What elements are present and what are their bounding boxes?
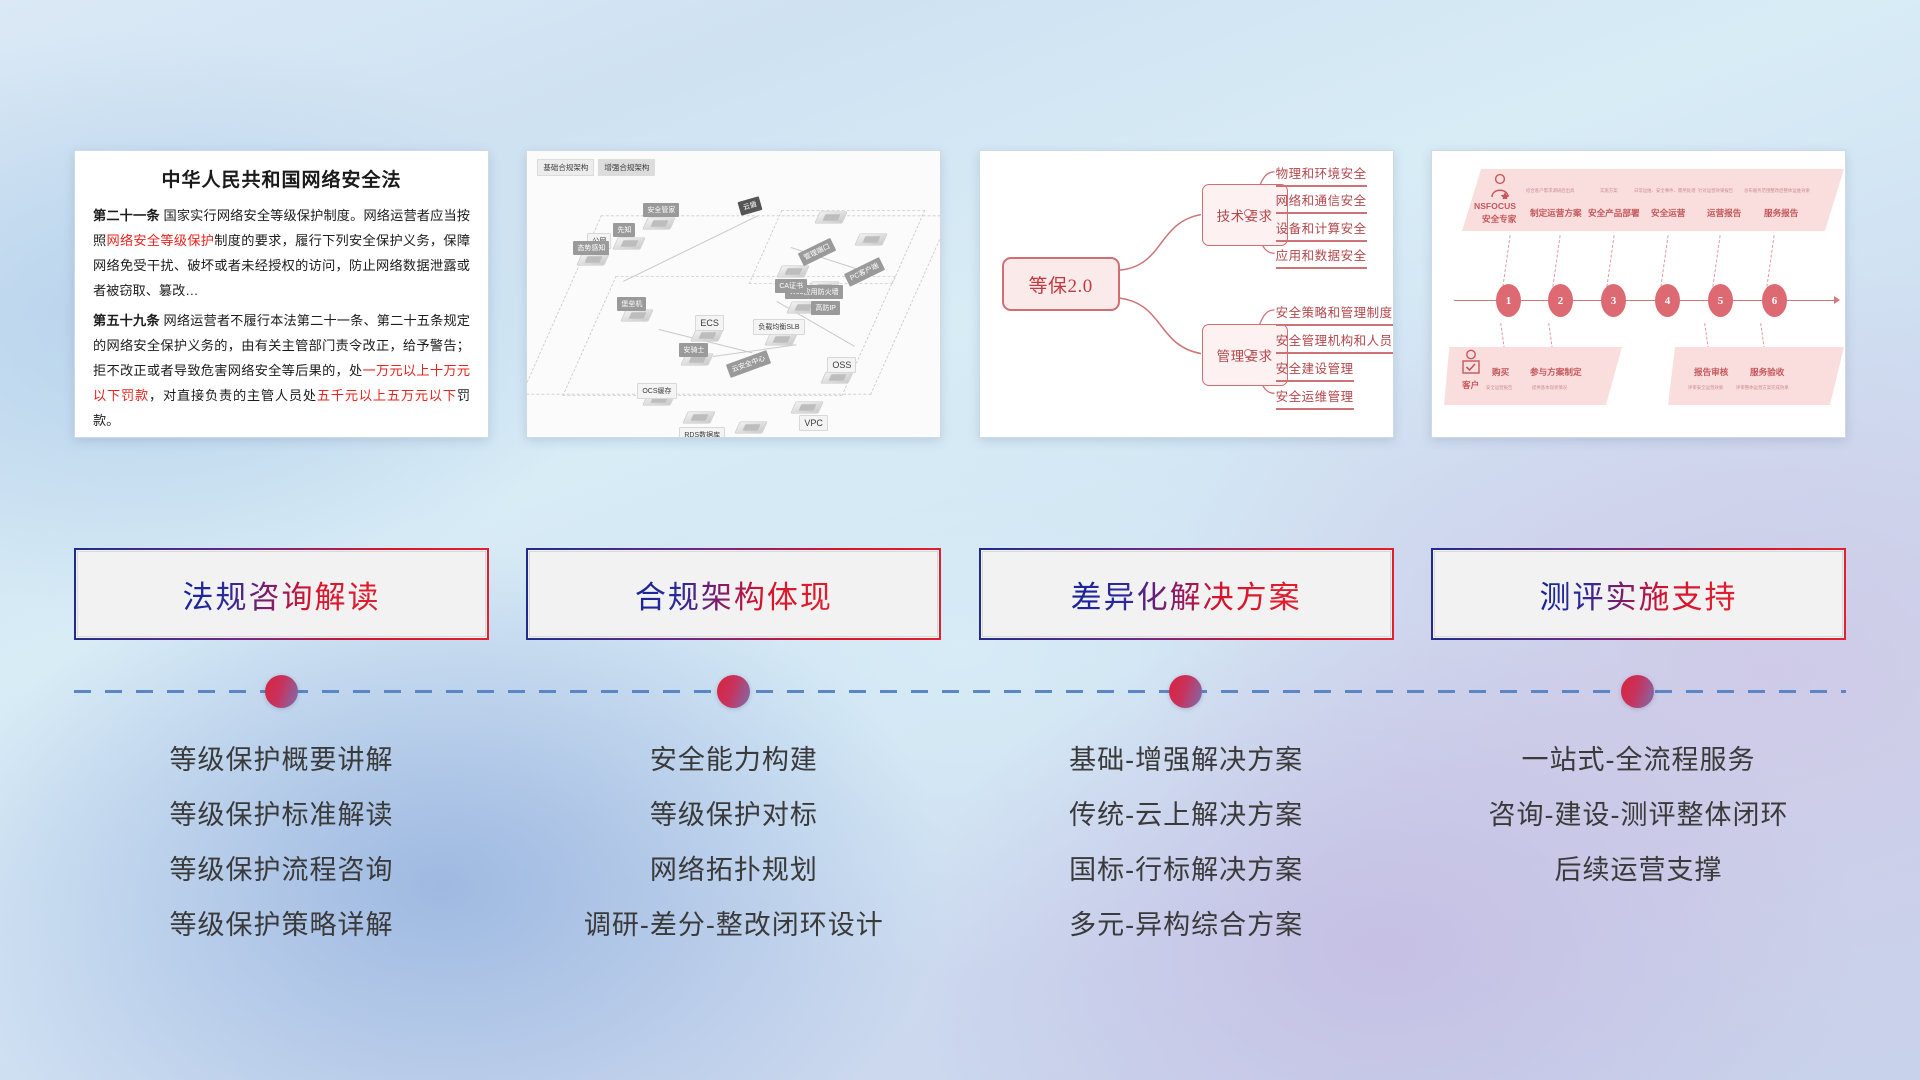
- arch-cube-slb: [765, 333, 798, 345]
- mindmap-collapse-dot-technical[interactable]: [1244, 209, 1252, 217]
- section-header-label-1: 合规架构体现: [635, 572, 833, 617]
- bullet-item-1-2: 网络拓扑规划: [650, 845, 818, 896]
- arch-cube-situation: [577, 253, 610, 265]
- flow-leader-5: [1712, 235, 1720, 287]
- law-run-2-3: 五千元以上五万元以下: [317, 388, 457, 403]
- flow-leader-2: [1552, 235, 1560, 287]
- flow-step-1[interactable]: 1: [1496, 284, 1521, 317]
- timeline: [74, 690, 1846, 694]
- flow-leader-1: [1502, 235, 1510, 287]
- law-article-label-2: 第五十九条: [93, 313, 160, 328]
- cloud-architecture-card: 基础合规架构 增强合规架构 云盾 公网 安全管家: [526, 150, 941, 438]
- flow-top-step-title-1: 安全产品部署: [1588, 207, 1640, 219]
- section-header-row: 法规咨询解读 合规架构体现 差异化解决方案 测评实施支持: [74, 548, 1846, 640]
- arch-node-bastion: 堡垒机: [617, 297, 646, 311]
- architecture-tab-bar: 基础合规架构 增强合规架构: [537, 159, 655, 176]
- section-header-label-0: 法规咨询解读: [183, 572, 381, 617]
- timeline-dot-3[interactable]: [1621, 675, 1654, 708]
- arch-cube-vpc: [791, 401, 824, 413]
- flow-bottom-step-title-1: 参与方案制定: [1530, 366, 1582, 378]
- section-header-1[interactable]: 合规架构体现: [526, 548, 941, 640]
- flow-leader-b4: [1760, 323, 1765, 349]
- flow-step-3[interactable]: 3: [1601, 284, 1626, 317]
- flow-bottom-step-sub-2: 评审安全运营效果: [1688, 385, 1723, 391]
- flow-leader-b3: [1704, 323, 1709, 349]
- arch-cube-ca: [777, 265, 810, 277]
- bullet-item-1-0: 安全能力构建: [650, 735, 818, 786]
- bullet-column-1: 安全能力构建 等级保护对标 网络拓扑规划 调研-差分-整改闭环设计: [526, 735, 941, 965]
- law-run-2-2: ，对直接负责的主管人员处: [149, 388, 317, 403]
- flow-top-step-sub-4: 总布服务范围整改后整体运维效果: [1744, 188, 1810, 194]
- mindmap-leaf-tech-2: 设备和计算安全: [1276, 218, 1367, 242]
- bullet-column-2: 基础-增强解决方案 传统-云上解决方案 国标-行标解决方案 多元-异构综合方案: [979, 735, 1394, 965]
- flow-top-step-sub-0: 结合客户需求调研后出具: [1526, 188, 1574, 194]
- flow-bottom-step-title-0: 购买: [1492, 366, 1509, 378]
- flow-top-step-sub-3: 针对运营效果报告: [1698, 188, 1733, 194]
- mindmap-leaf-mgmt-3: 安全运维管理: [1276, 386, 1354, 410]
- law-article-label-1: 第二十一条: [93, 208, 160, 223]
- section-header-3[interactable]: 测评实施支持: [1431, 548, 1846, 640]
- section-header-label-2: 差异化解决方案: [1071, 572, 1302, 617]
- arch-node-slb: 负载均衡SLB: [753, 319, 804, 335]
- arch-node-foreknow: 先知: [613, 223, 635, 237]
- section-header-0[interactable]: 法规咨询解读: [74, 548, 489, 640]
- flow-bottom-step-title-2: 报告审核: [1694, 366, 1728, 378]
- flow-expert-name-line2: 安全专家: [1482, 213, 1516, 225]
- flow-bottom-step-sub-1: 提供基本现状情况: [1532, 385, 1567, 391]
- arch-cube-foreknow: [613, 237, 646, 249]
- flow-leader-3: [1606, 235, 1614, 287]
- arch-cube-security-butler: [643, 217, 676, 229]
- flow-step-5[interactable]: 5: [1708, 284, 1733, 317]
- flow-top-band: [1462, 169, 1844, 231]
- flow-step-2[interactable]: 2: [1548, 284, 1573, 317]
- bullet-column-row: 等级保护概要讲解 等级保护标准解读 等级保护流程咨询 等级保护策略详解 安全能力…: [74, 735, 1846, 965]
- tab-basic-compliance[interactable]: 基础合规架构: [537, 159, 594, 176]
- bullet-item-0-0: 等级保护概要讲解: [170, 735, 394, 786]
- timeline-dot-1[interactable]: [717, 675, 750, 708]
- law-reference-card: 中华人民共和国网络安全法 第二十一条 国家实行网络安全等级保护制度。网络运营者应…: [74, 150, 489, 438]
- section-header-2[interactable]: 差异化解决方案: [979, 548, 1394, 640]
- arch-cube-pc-client: [855, 233, 888, 245]
- arch-cube-ecs: [691, 329, 724, 341]
- mindmap-collapse-dot-management[interactable]: [1244, 349, 1252, 357]
- flow-top-step-title-2: 安全运营: [1651, 207, 1685, 219]
- flow-step-6[interactable]: 6: [1762, 284, 1787, 317]
- arch-node-oss: OSS: [827, 357, 856, 373]
- flow-top-step-title-0: 制定运营方案: [1530, 207, 1582, 219]
- flow-bottom-step-title-3: 服务验收: [1750, 366, 1784, 378]
- mindmap-card: 等保2.0 技术要求 物理和环境安全 网络和通信安全 设备和计算安全 应用和数据…: [979, 150, 1394, 438]
- timeline-dot-0[interactable]: [265, 675, 298, 708]
- law-run-1-1: 网络安全等级保护: [106, 233, 214, 248]
- bullet-item-2-2: 国标-行标解决方案: [1069, 845, 1303, 896]
- bullet-item-3-2: 后续运营支撑: [1554, 845, 1722, 896]
- mindmap-leaf-tech-0: 物理和环境安全: [1276, 163, 1367, 187]
- tab-enhanced-compliance[interactable]: 增强合规架构: [598, 159, 655, 176]
- arch-node-cloud-shield: 云盾: [738, 196, 763, 216]
- bullet-item-2-3: 多元-异构综合方案: [1069, 900, 1303, 951]
- bullet-item-0-1: 等级保护标准解读: [170, 790, 394, 841]
- timeline-dot-2[interactable]: [1169, 675, 1202, 708]
- reference-card-row: 中华人民共和国网络安全法 第二十一条 国家实行网络安全等级保护制度。网络运营者应…: [74, 150, 1846, 438]
- customer-person-check-icon: [1460, 349, 1482, 380]
- arch-cube-oss: [821, 371, 854, 383]
- arch-cube-bastion: [621, 309, 654, 321]
- arch-node-security-butler: 安全管家: [643, 203, 679, 217]
- mindmap-leaf-mgmt-1: 安全管理机构和人员: [1276, 330, 1393, 354]
- mindmap-leaf-mgmt-2: 安全建设管理: [1276, 358, 1354, 382]
- arch-node-situation: 态势感知: [573, 241, 609, 255]
- flow-leader-6: [1766, 235, 1774, 287]
- arch-node-gaofang-ip: 高防IP: [811, 301, 840, 315]
- arch-cube-rds: [683, 411, 716, 423]
- mindmap-leaf-mgmt-0: 安全策略和管理制度: [1276, 302, 1393, 326]
- bullet-item-0-2: 等级保护流程咨询: [170, 845, 394, 896]
- flow-top-step-title-3: 运营报告: [1707, 207, 1741, 219]
- bullet-item-2-1: 传统-云上解决方案: [1069, 790, 1303, 841]
- arch-node-db-audit: 数据库审计: [731, 437, 776, 438]
- flow-axis-arrow-icon: [1834, 296, 1840, 304]
- flow-bottom-step-sub-0: 安全运营报告: [1486, 385, 1512, 391]
- arch-node-ecs: ECS: [695, 315, 724, 331]
- bullet-item-2-0: 基础-增强解决方案: [1069, 735, 1303, 786]
- mindmap-root-node[interactable]: 等保2.0: [1002, 257, 1120, 311]
- flow-bottom-step-sub-3: 评审整体运营方案完成效果: [1736, 385, 1789, 391]
- flow-leader-b2: [1548, 323, 1553, 349]
- flow-top-step-title-4: 服务报告: [1764, 207, 1798, 219]
- bullet-column-0: 等级保护概要讲解 等级保护标准解读 等级保护流程咨询 等级保护策略详解: [74, 735, 489, 965]
- arch-node-anqishi: 安骑士: [679, 343, 708, 357]
- bullet-column-3: 一站式-全流程服务 咨询-建设-测评整体闭环 后续运营支撑: [1431, 735, 1846, 965]
- bullet-item-3-0: 一站式-全流程服务: [1521, 735, 1755, 786]
- flow-customer-name: 客户: [1462, 379, 1479, 391]
- timeline-dashed-line: [74, 690, 1846, 693]
- flow-top-step-sub-2: 日常运维、安全事件、需用处理: [1634, 188, 1695, 194]
- flow-leader-4: [1660, 235, 1668, 287]
- law-paragraph-1: 第二十一条 国家实行网络安全等级保护制度。网络运营者应当按照网络安全等级保护制度…: [93, 203, 470, 303]
- arch-node-ca-cert: CA证书: [775, 279, 807, 293]
- law-card-title: 中华人民共和国网络安全法: [93, 165, 470, 192]
- arch-node-rds: RDS数据库: [679, 427, 725, 438]
- mindmap-leaf-tech-1: 网络和通信安全: [1276, 190, 1367, 214]
- arch-cube-mgmt-port: [815, 211, 848, 223]
- bullet-item-1-3: 调研-差分-整改闭环设计: [584, 900, 884, 951]
- bullet-item-1-1: 等级保护对标: [650, 790, 818, 841]
- bullet-item-3-1: 咨询-建设-测评整体闭环: [1488, 790, 1788, 841]
- law-paragraph-2: 第五十九条 网络运营者不履行本法第二十一条、第二十五条规定的网络安全保护义务的，…: [93, 308, 470, 433]
- mindmap-leaf-tech-3: 应用和数据安全: [1276, 245, 1367, 269]
- flow-leader-b1: [1500, 323, 1505, 349]
- nsfocus-service-flow-card: NSFOCUS 安全专家 制定运营方案 结合客户需求调研后出具 安全产品部署 实…: [1431, 150, 1846, 438]
- flow-step-4[interactable]: 4: [1655, 284, 1680, 317]
- expert-person-star-icon: [1488, 173, 1512, 204]
- arch-cube-db-audit: [735, 421, 768, 433]
- arch-node-ocs: OCS缓存: [637, 383, 676, 399]
- flow-expert-name-line1: NSFOCUS: [1474, 201, 1516, 211]
- arch-node-vpc: VPC: [799, 415, 828, 431]
- bullet-item-0-3: 等级保护策略详解: [170, 900, 394, 951]
- section-header-label-3: 测评实施支持: [1539, 572, 1737, 617]
- flow-top-step-sub-1: 实施方案: [1600, 188, 1618, 194]
